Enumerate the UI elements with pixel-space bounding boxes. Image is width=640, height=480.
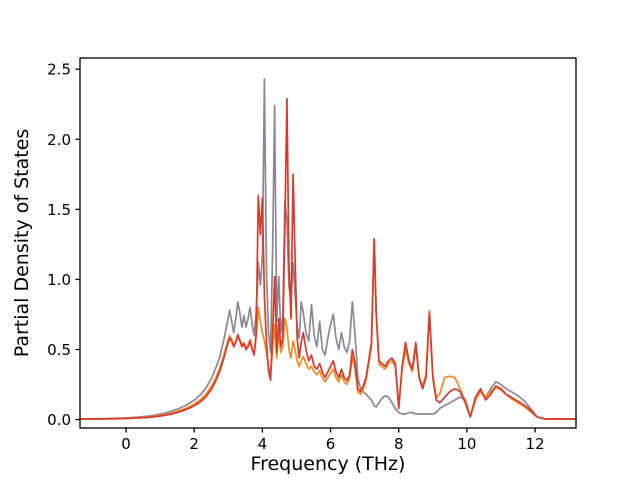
- x-tick-label: 2: [189, 435, 199, 453]
- x-tick-label: 10: [457, 435, 476, 453]
- x-tick-label: 6: [326, 435, 336, 453]
- x-tick-label: 4: [258, 435, 268, 453]
- y-tick-label: 0.5: [47, 341, 71, 359]
- x-tick-label: 12: [526, 435, 545, 453]
- x-tick-label: 8: [394, 435, 404, 453]
- x-tick-label: 0: [121, 435, 131, 453]
- y-tick-label: 2.5: [47, 61, 71, 79]
- y-tick-label: 0.0: [47, 411, 71, 429]
- y-tick-label: 2.0: [47, 131, 71, 149]
- pdos-line-chart: 0246810120.00.51.01.52.02.5 Frequency (T…: [0, 0, 640, 480]
- y-tick-label: 1.5: [47, 201, 71, 219]
- y-tick-label: 1.0: [47, 271, 71, 289]
- figure-canvas: 0246810120.00.51.01.52.02.5 Frequency (T…: [0, 0, 640, 480]
- x-axis-title: Frequency (THz): [251, 453, 406, 475]
- y-axis-title: Partial Density of States: [11, 129, 33, 358]
- plot-background: [0, 0, 640, 480]
